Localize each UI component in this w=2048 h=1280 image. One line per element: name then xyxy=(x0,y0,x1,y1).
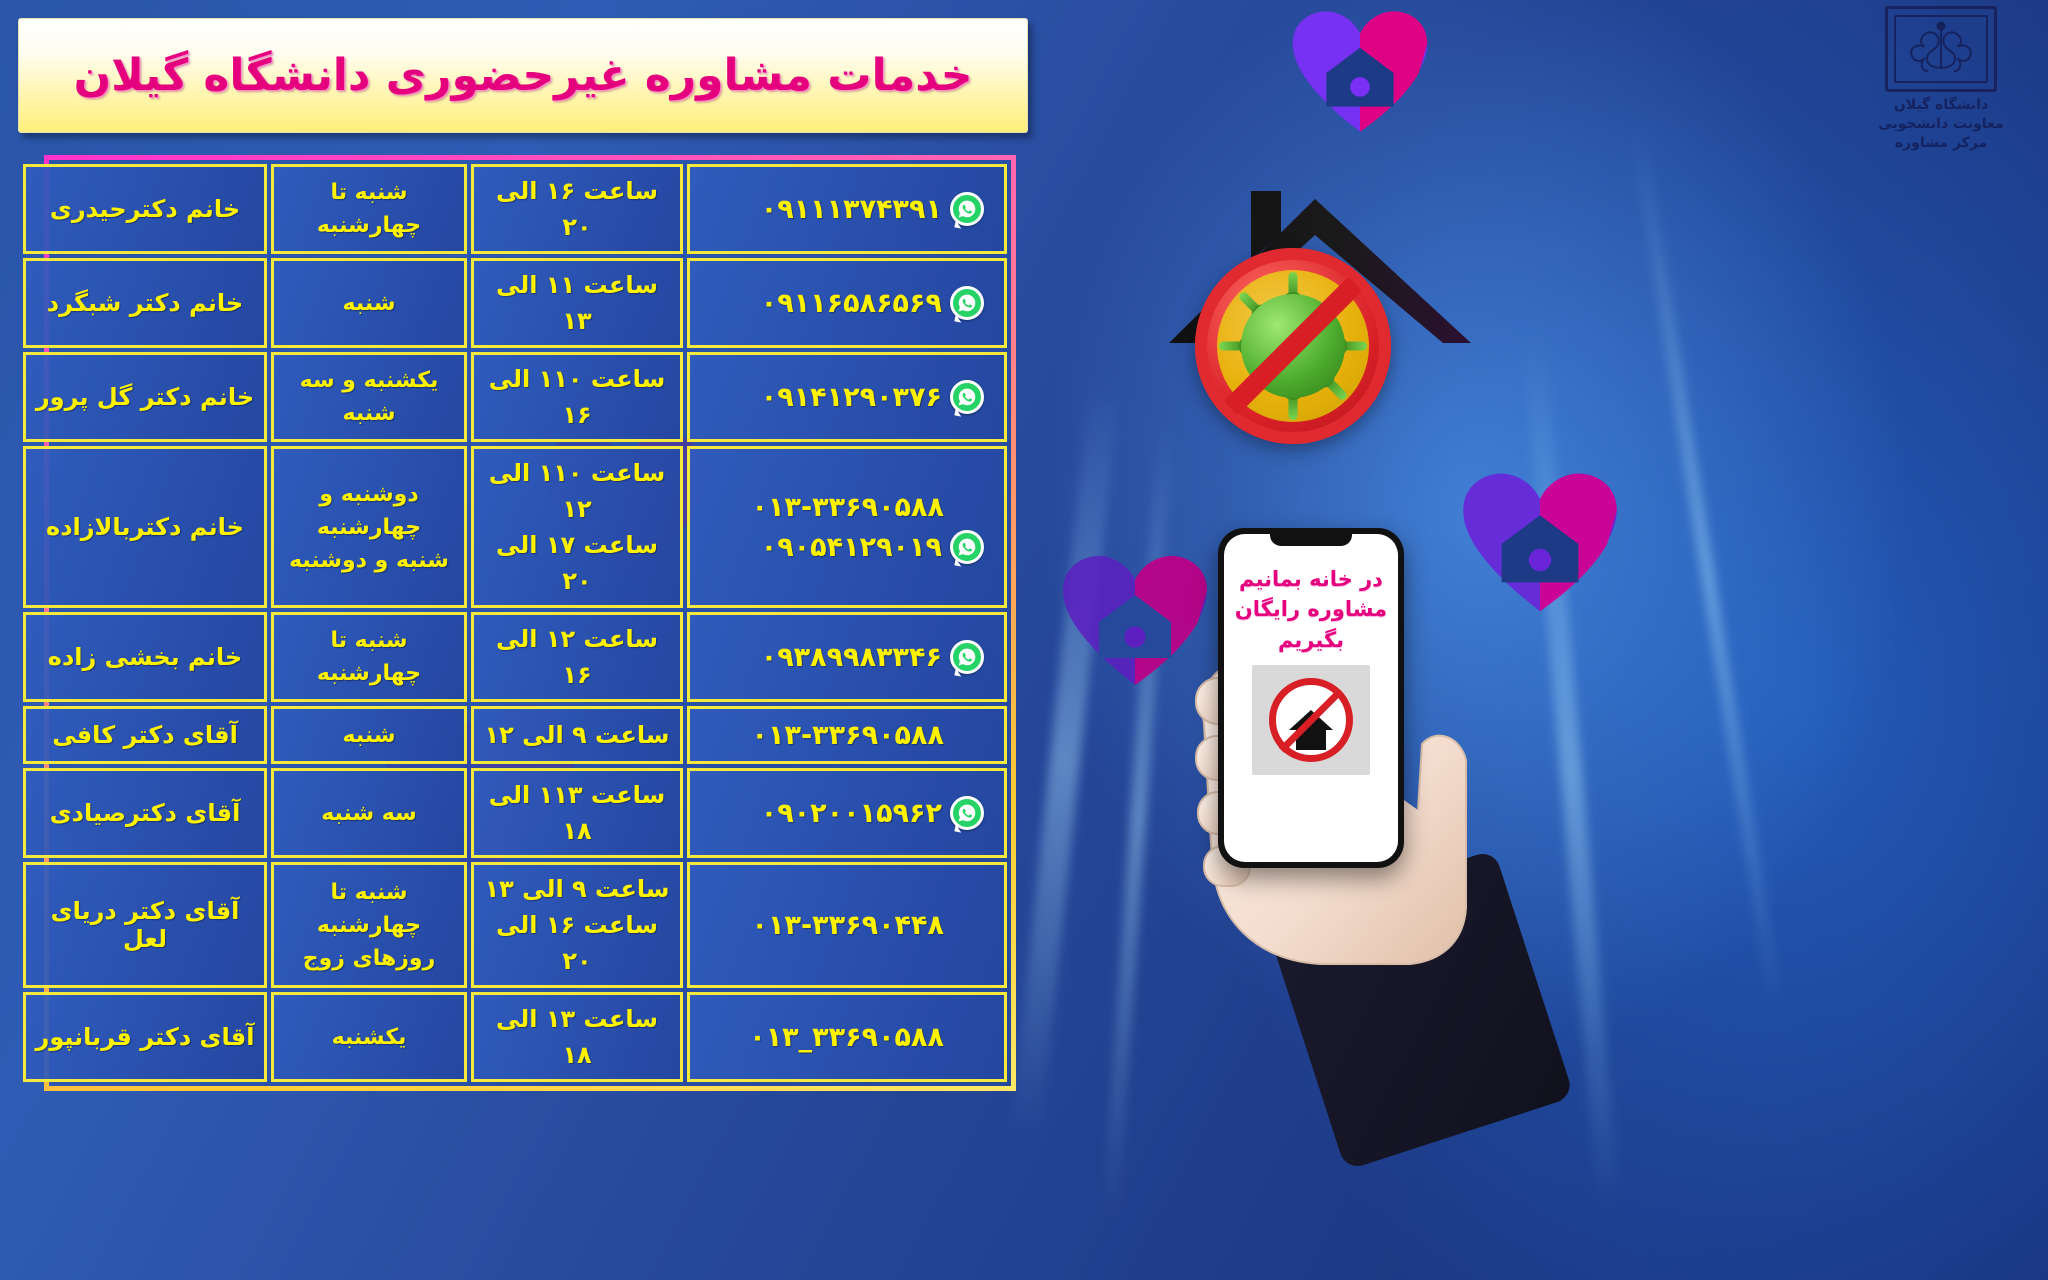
hours-text: ساعت ۱۱۰ الی ۱۲ xyxy=(478,455,676,527)
logo-line-center: مرکز مشاوره xyxy=(1848,134,2034,153)
cell-hours: ساعت ۹ الی ۱۳ساعت ۱۶ الی ۲۰ xyxy=(471,862,683,988)
days-text: شنبه xyxy=(278,287,460,320)
cell-hours: ساعت ۱۳ الی ۱۸ xyxy=(471,992,683,1082)
cell-consultant-name: آقای دکتر دریای لعل xyxy=(23,862,267,988)
days-text: شنبه تا چهارشنبه xyxy=(278,624,460,690)
coronavirus-blocked-icon xyxy=(1195,248,1391,444)
cell-days: یکشنبه و سه شنبه xyxy=(271,352,467,442)
table-row: ۰۹۰۲۰۰۱۵۹۶۲ساعت ۱۱۳ الی ۱۸سه شنبهآقای دک… xyxy=(23,768,1007,858)
phone-notch xyxy=(1270,528,1352,546)
days-text: روزهای زوج xyxy=(278,942,460,975)
cell-consultant-name: خانم دکتر شبگرد xyxy=(23,258,267,348)
days-text: شنبه تا چهارشنبه xyxy=(278,176,460,242)
light-beam-4 xyxy=(1630,124,1785,1015)
days-text: سه شنبه xyxy=(278,797,460,830)
cell-hours: ساعت ۹ الی ۱۲ xyxy=(471,706,683,764)
hours-text: ساعت ۱۳ الی ۱۸ xyxy=(478,1001,676,1073)
phone-screen: در خانه بمانیم مشاوره رایگان بگیریم xyxy=(1224,534,1398,862)
phone-message-line-1: در خانه بمانیم xyxy=(1239,564,1383,594)
table-row: ۰۱۳-۳۳۶۹۰۴۴۸ساعت ۹ الی ۱۳ساعت ۱۶ الی ۲۰ش… xyxy=(23,862,1007,988)
logo-line-university: دانشگاه گیلان xyxy=(1848,96,2034,115)
cell-days: شنبه xyxy=(271,706,467,764)
phone-number-text: ۰۱۳-۳۳۶۹۰۴۴۸ xyxy=(752,910,944,941)
hours-text: ساعت ۱۱۳ الی ۱۸ xyxy=(478,777,676,849)
cell-phone-numbers[interactable]: ۰۹۱۴۱۲۹۰۳۷۶ xyxy=(687,352,1007,442)
whatsapp-icon[interactable] xyxy=(950,192,984,226)
phone-entry[interactable]: ۰۹۱۱۱۳۷۴۳۹۱ xyxy=(694,189,990,229)
schedule-table-element: ۰۹۱۱۱۳۷۴۳۹۱ساعت ۱۶ الی ۲۰شنبه تا چهارشنب… xyxy=(19,160,1011,1086)
whatsapp-icon[interactable] xyxy=(950,640,984,674)
cell-days: سه شنبه xyxy=(271,768,467,858)
cell-phone-numbers[interactable]: ۰۹۱۱۱۳۷۴۳۹۱ xyxy=(687,164,1007,254)
cell-consultant-name: خانم بخشی زاده xyxy=(23,612,267,702)
hours-text: ساعت ۱۱۰ الی ۱۶ xyxy=(478,361,676,433)
cell-phone-numbers[interactable]: ۰۱۳-۳۳۶۹۰۴۴۸ xyxy=(687,862,1007,988)
hours-text: ساعت ۱۷ الی ۲۰ xyxy=(478,527,676,599)
phone-entry[interactable]: ۰۹۰۵۴۱۲۹۰۱۹ xyxy=(694,527,990,567)
cell-phone-numbers[interactable]: ۰۹۱۱۶۵۸۶۵۶۹ xyxy=(687,258,1007,348)
hours-text: ساعت ۱۶ الی ۲۰ xyxy=(478,173,676,245)
university-logo-block: دانشگاه گیلان معاونت دانشجویی مرکز مشاور… xyxy=(1848,6,2034,153)
hours-text: ساعت ۱۱ الی ۱۳ xyxy=(478,267,676,339)
cell-phone-numbers[interactable]: ۰۹۰۲۰۰۱۵۹۶۲ xyxy=(687,768,1007,858)
table-row: ۰۱۳-۳۳۶۹۰۵۸۸۰۹۰۵۴۱۲۹۰۱۹ساعت ۱۱۰ الی ۱۲سا… xyxy=(23,446,1007,608)
phone-message-line-3: بگیریم xyxy=(1278,625,1344,655)
table-row: ۰۹۱۴۱۲۹۰۳۷۶ساعت ۱۱۰ الی ۱۶یکشنبه و سه شن… xyxy=(23,352,1007,442)
phone-number-text: ۰۱۳_۳۳۶۹۰۵۸۸ xyxy=(749,1022,944,1053)
cell-phone-numbers[interactable]: ۰۱۳_۳۳۶۹۰۵۸۸ xyxy=(687,992,1007,1082)
whatsapp-icon[interactable] xyxy=(950,796,984,830)
cell-consultant-name: خانم دکتربالازاده xyxy=(23,446,267,608)
cell-hours: ساعت ۱۱۰ الی ۱۲ساعت ۱۷ الی ۲۰ xyxy=(471,446,683,608)
schedule-table-body: ۰۹۱۱۱۳۷۴۳۹۱ساعت ۱۶ الی ۲۰شنبه تا چهارشنب… xyxy=(23,164,1007,1082)
whatsapp-icon[interactable] xyxy=(950,530,984,564)
hours-text: ساعت ۱۶ الی ۲۰ xyxy=(478,907,676,979)
title-banner: خدمات مشاوره غیرحضوری دانشگاه گیلان xyxy=(18,18,1028,133)
phone-entry[interactable]: ۰۱۳-۳۳۶۹۰۴۴۸ xyxy=(694,905,990,945)
cell-consultant-name: آقای دکترصیادی xyxy=(23,768,267,858)
cell-hours: ساعت ۱۱۰ الی ۱۶ xyxy=(471,352,683,442)
phone-entry[interactable]: ۰۹۳۸۹۹۸۳۳۴۶ xyxy=(694,637,990,677)
cell-days: شنبه xyxy=(271,258,467,348)
table-row: ۰۹۱۱۱۳۷۴۳۹۱ساعت ۱۶ الی ۲۰شنبه تا چهارشنب… xyxy=(23,164,1007,254)
page-title: خدمات مشاوره غیرحضوری دانشگاه گیلان xyxy=(74,50,973,101)
logo-line-deputy: معاونت دانشجویی xyxy=(1848,115,2034,134)
phone-entry[interactable]: ۰۹۱۱۶۵۸۶۵۶۹ xyxy=(694,283,990,323)
days-text: یکشنبه xyxy=(278,1021,460,1054)
cell-hours: ساعت ۱۱ الی ۱۳ xyxy=(471,258,683,348)
cell-hours: ساعت ۱۱۳ الی ۱۸ xyxy=(471,768,683,858)
cell-phone-numbers[interactable]: ۰۹۳۸۹۹۸۳۳۴۶ xyxy=(687,612,1007,702)
heart-home-icon xyxy=(1290,8,1430,138)
phone-message-line-2: مشاوره رایگان xyxy=(1235,594,1387,624)
phone-entry[interactable]: ۰۹۰۲۰۰۱۵۹۶۲ xyxy=(694,793,990,833)
days-text: شنبه xyxy=(278,719,460,752)
table-row: ۰۹۱۱۶۵۸۶۵۶۹ساعت ۱۱ الی ۱۳شنبهخانم دکتر ش… xyxy=(23,258,1007,348)
cell-days: شنبه تا چهارشنبه xyxy=(271,164,467,254)
phone-entry[interactable]: ۰۹۱۴۱۲۹۰۳۷۶ xyxy=(694,377,990,417)
table-row: ۰۹۳۸۹۹۸۳۳۴۶ساعت ۱۲ الی ۱۶شنبه تا چهارشنب… xyxy=(23,612,1007,702)
cell-phone-numbers[interactable]: ۰۱۳-۳۳۶۹۰۵۸۸۰۹۰۵۴۱۲۹۰۱۹ xyxy=(687,446,1007,608)
phone-number-text: ۰۱۳-۳۳۶۹۰۵۸۸ xyxy=(752,492,944,523)
phone-number-text: ۰۹۱۱۱۳۷۴۳۹۱ xyxy=(761,194,942,225)
table-row: ۰۱۳_۳۳۶۹۰۵۸۸ساعت ۱۳ الی ۱۸یکشنبهآقای دکت… xyxy=(23,992,1007,1082)
smartphone-illustration: در خانه بمانیم مشاوره رایگان بگیریم xyxy=(1218,528,1404,868)
poster-background: خدمات مشاوره غیرحضوری دانشگاه گیلان دانش… xyxy=(0,0,2048,1280)
hours-text: ساعت ۱۲ الی ۱۶ xyxy=(478,621,676,693)
days-text: شنبه تا چهارشنبه xyxy=(278,876,460,942)
cell-phone-numbers[interactable]: ۰۱۳-۳۳۶۹۰۵۸۸ xyxy=(687,706,1007,764)
phone-number-text: ۰۹۱۱۶۵۸۶۵۶۹ xyxy=(761,288,942,319)
phone-number-text: ۰۹۱۴۱۲۹۰۳۷۶ xyxy=(761,382,942,413)
cell-hours: ساعت ۱۶ الی ۲۰ xyxy=(471,164,683,254)
days-text: یکشنبه و سه شنبه xyxy=(278,364,460,430)
hours-text: ساعت ۹ الی ۱۲ xyxy=(478,717,676,753)
cell-days: شنبه تا چهارشنبهروزهای زوج xyxy=(271,862,467,988)
phone-entry[interactable]: ۰۱۳_۳۳۶۹۰۵۸۸ xyxy=(694,1017,990,1057)
cell-consultant-name: آقای دکتر قربانپور xyxy=(23,992,267,1082)
table-row: ۰۱۳-۳۳۶۹۰۵۸۸ساعت ۹ الی ۱۲شنبهآقای دکتر ک… xyxy=(23,706,1007,764)
cell-consultant-name: خانم دکترحیدری xyxy=(23,164,267,254)
whatsapp-icon[interactable] xyxy=(950,380,984,414)
cell-days: یکشنبه xyxy=(271,992,467,1082)
days-text: دوشنبه و چهارشنبه xyxy=(278,478,460,544)
phone-number-text: ۰۹۰۵۴۱۲۹۰۱۹ xyxy=(761,532,942,563)
cell-days: دوشنبه و چهارشنبهشنبه و دوشنبه xyxy=(271,446,467,608)
cell-consultant-name: آقای دکتر کافی xyxy=(23,706,267,764)
phone-entry[interactable]: ۰۱۳-۳۳۶۹۰۵۸۸ xyxy=(694,487,990,527)
phone-number-text: ۰۹۰۲۰۰۱۵۹۶۲ xyxy=(761,798,942,829)
light-beam-1 xyxy=(1010,381,1119,1140)
cell-hours: ساعت ۱۲ الی ۱۶ xyxy=(471,612,683,702)
consultant-schedule-table: ۰۹۱۱۱۳۷۴۳۹۱ساعت ۱۶ الی ۲۰شنبه تا چهارشنب… xyxy=(44,155,1016,1091)
whatsapp-icon[interactable] xyxy=(950,286,984,320)
cell-consultant-name: خانم دکتر گل پرور xyxy=(23,352,267,442)
days-text: شنبه و دوشنبه xyxy=(278,544,460,577)
cell-days: شنبه تا چهارشنبه xyxy=(271,612,467,702)
no-leaving-home-icon xyxy=(1252,665,1370,775)
university-guilan-emblem-icon xyxy=(1885,6,1997,92)
phone-number-text: ۰۱۳-۳۳۶۹۰۵۸۸ xyxy=(752,720,944,751)
phone-entry[interactable]: ۰۱۳-۳۳۶۹۰۵۸۸ xyxy=(694,715,990,755)
hours-text: ساعت ۹ الی ۱۳ xyxy=(478,871,676,907)
phone-number-text: ۰۹۳۸۹۹۸۳۳۴۶ xyxy=(761,642,942,673)
